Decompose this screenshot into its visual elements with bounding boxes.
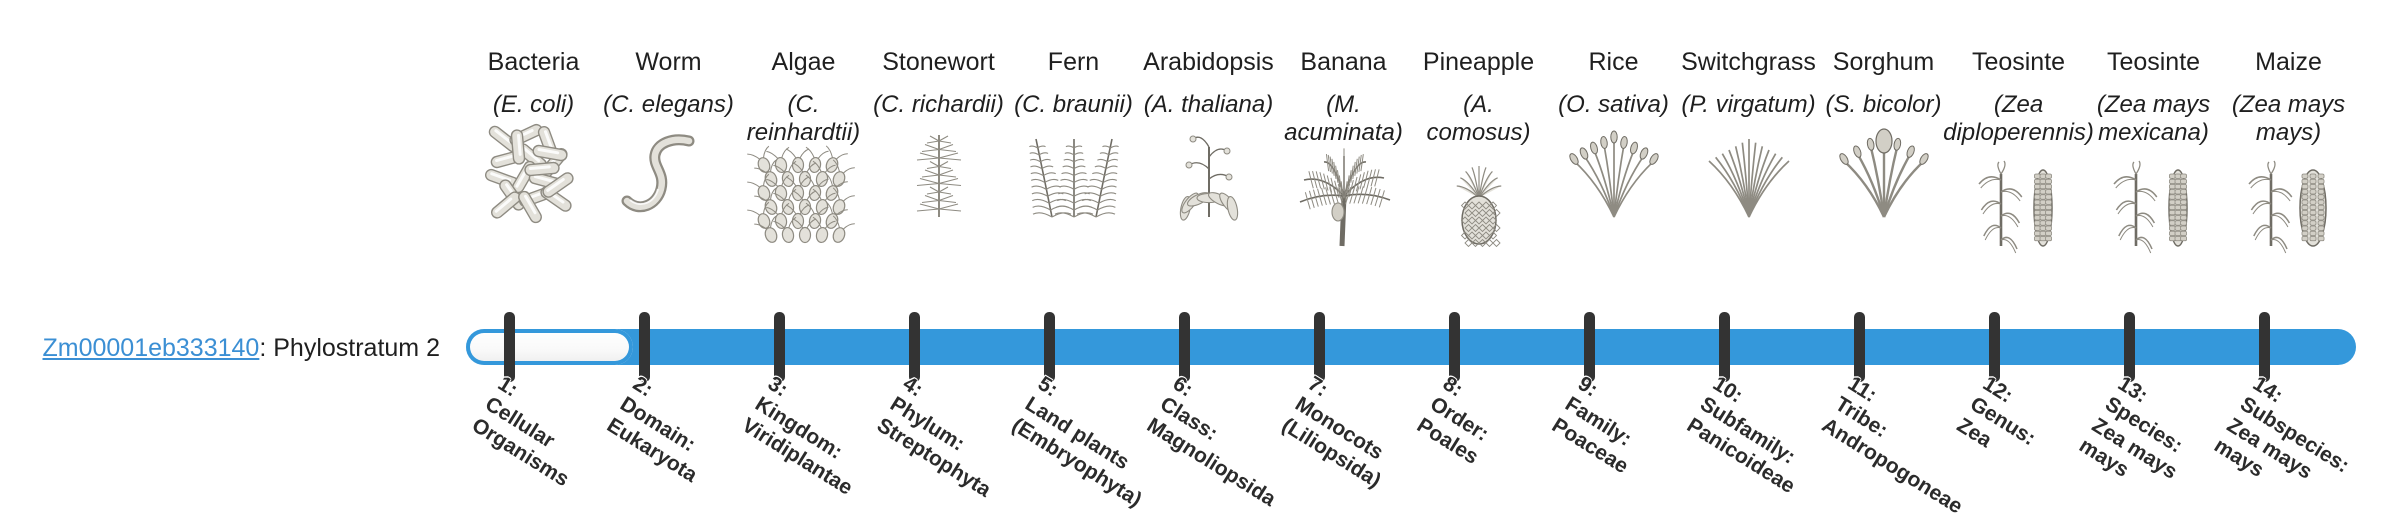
species-column: Fern(C. braunii) bbox=[1006, 48, 1141, 219]
species-common-name: Sorghum bbox=[1833, 48, 1934, 78]
sorghum-plant-icon bbox=[1820, 127, 1948, 219]
species-column: Bacteria(E. coli) bbox=[466, 48, 601, 219]
species-common-name: Switchgrass bbox=[1681, 48, 1816, 78]
species-common-name: Bacteria bbox=[488, 48, 580, 78]
species-column: Banana(M. acuminata) bbox=[1276, 48, 1411, 248]
bacteria-rods-icon bbox=[470, 127, 598, 219]
teosinte-plant-ear-icon bbox=[1955, 156, 2083, 248]
species-common-name: Pineapple bbox=[1423, 48, 1534, 78]
taxonomic-rank-label: 1:CellularOrganisms bbox=[467, 372, 599, 492]
taxonomic-rank-label: 13:Species:Zea maysmays bbox=[2074, 372, 2207, 505]
species-column: Pineapple(A. comosus) bbox=[1411, 48, 1546, 248]
phylostratum-value-text: Phylostratum 2 bbox=[273, 334, 440, 362]
taxonomic-rank-label-list: 1:CellularOrganisms2:Domain:Eukaryota3:K… bbox=[466, 372, 2356, 522]
species-latin-name: (M. acuminata) bbox=[1276, 91, 1411, 149]
species-latin-name: (C. braunii) bbox=[1014, 91, 1133, 120]
banana-plant-icon bbox=[1280, 156, 1408, 248]
taxonomic-rank-label: 4:Phylum:Streptophyta bbox=[872, 372, 1021, 503]
species-common-name: Fern bbox=[1048, 48, 1099, 78]
species-column: Algae(C. reinhardtii) bbox=[736, 48, 871, 248]
species-column: Stonewort(C. richardii) bbox=[871, 48, 1006, 219]
species-common-name: Arabidopsis bbox=[1143, 48, 1274, 78]
gene-id-link[interactable]: Zm00001eb333140 bbox=[42, 334, 259, 362]
arabidopsis-plant-icon bbox=[1145, 127, 1273, 219]
species-common-name: Maize bbox=[2255, 48, 2322, 78]
progress-bar-tick-list bbox=[466, 329, 2356, 365]
species-latin-name: (S. bicolor) bbox=[1825, 91, 1941, 120]
species-column: Arabidopsis(A. thaliana) bbox=[1141, 48, 1276, 219]
species-column: Rice(O. sativa) bbox=[1546, 48, 1681, 219]
species-latin-name: (O. sativa) bbox=[1558, 91, 1669, 120]
species-common-name: Rice bbox=[1588, 48, 1638, 78]
species-latin-name: (A. comosus) bbox=[1411, 91, 1546, 149]
rice-plant-icon bbox=[1550, 127, 1678, 219]
gene-phylostratum-label: Zm00001eb333140: Phylostratum 2 bbox=[40, 333, 440, 363]
species-common-name: Algae bbox=[772, 48, 836, 78]
taxonomic-rank-label: 5:Land plants(Embryophyta) bbox=[1007, 372, 1171, 513]
species-latin-name: (C. elegans) bbox=[603, 91, 734, 120]
gene-label-separator: : bbox=[259, 334, 273, 362]
species-column: Switchgrass(P. virgatum) bbox=[1681, 48, 1816, 219]
taxonomic-rank-label: 7:Monocots(Liliopsida) bbox=[1277, 372, 1411, 493]
teosinte-plant-ear-icon bbox=[2090, 156, 2218, 248]
species-latin-name: (A. thaliana) bbox=[1144, 91, 1273, 120]
taxonomic-rank-label: 8:Order:Poales bbox=[1412, 372, 1508, 470]
taxonomic-rank-label: 14:Subspecies:Zea maysmays bbox=[2209, 372, 2366, 520]
stonewort-alga-icon bbox=[875, 127, 1003, 219]
species-latin-name: (C. reinhardtii) bbox=[736, 91, 871, 149]
species-column: Sorghum(S. bicolor) bbox=[1816, 48, 1951, 219]
taxonomic-rank-label: 3:Kingdom:Viridiplantae bbox=[737, 372, 882, 501]
species-column: Teosinte(Zea mays mexicana) bbox=[2086, 48, 2221, 248]
species-latin-name: (P. virgatum) bbox=[1681, 91, 1815, 120]
species-common-name: Stonewort bbox=[882, 48, 995, 78]
phylostratum-progress-bar[interactable] bbox=[466, 329, 2356, 365]
species-column: Worm(C. elegans) bbox=[601, 48, 736, 219]
species-column: Teosinte(Zea diploperennis) bbox=[1951, 48, 2086, 248]
taxonomic-rank-label: 11:Tribe:Andropogoneae bbox=[1817, 372, 1992, 519]
species-common-name: Teosinte bbox=[2107, 48, 2200, 78]
species-common-name: Worm bbox=[635, 48, 701, 78]
pineapple-plant-icon bbox=[1415, 156, 1543, 248]
green-algae-cells-icon bbox=[740, 156, 868, 248]
species-column-list: Bacteria(E. coli) bbox=[466, 48, 2356, 308]
phylostratigraphy-figure: Zm00001eb333140: Phylostratum 2 Bacteria… bbox=[0, 0, 2400, 520]
species-common-name: Banana bbox=[1300, 48, 1386, 78]
species-latin-name: (C. richardii) bbox=[873, 91, 1004, 120]
species-column: Maize(Zea mays mays) bbox=[2221, 48, 2356, 248]
taxonomic-rank-label: 2:Domain:Eukaryota bbox=[602, 372, 727, 488]
species-latin-name: (Zea mays mays) bbox=[2221, 91, 2356, 149]
species-latin-name: (Zea diploperennis) bbox=[1943, 91, 2094, 149]
taxonomic-rank-label: 10:Subfamily:Panicoideae bbox=[1682, 372, 1825, 499]
maize-plant-ear-icon bbox=[2225, 156, 2353, 248]
nematode-worm-icon bbox=[605, 127, 733, 219]
fern-frond-icon bbox=[1010, 127, 1138, 219]
taxonomic-rank-label: 6:Class:Magnoliopsida bbox=[1142, 372, 1305, 512]
species-latin-name: (E. coli) bbox=[493, 91, 574, 120]
species-common-name: Teosinte bbox=[1972, 48, 2065, 78]
species-latin-name: (Zea mays mexicana) bbox=[2086, 91, 2221, 149]
taxonomic-rank-label: 9:Family:Poaceae bbox=[1547, 372, 1658, 479]
switchgrass-plant-icon bbox=[1685, 127, 1813, 219]
